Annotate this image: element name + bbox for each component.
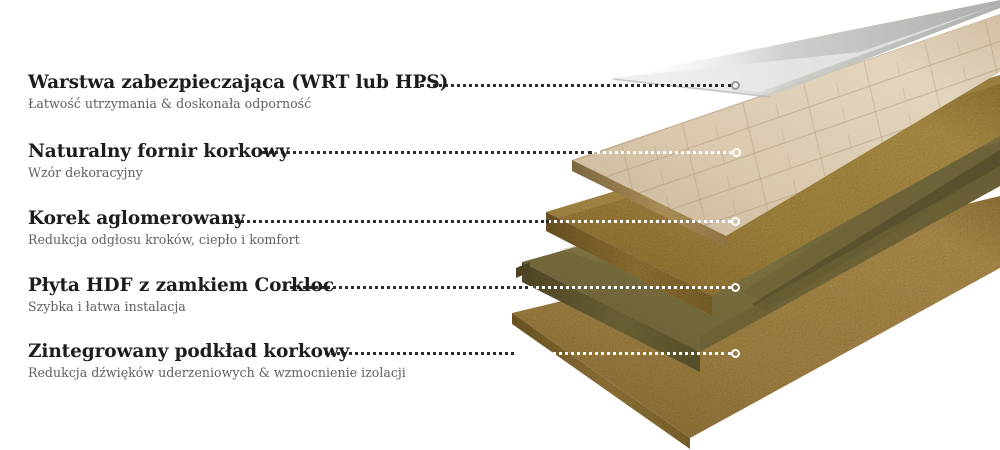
label-cork-veneer-subtitle: Wzór dekoracyjny	[28, 165, 289, 181]
label-hdf-corkloc-subtitle: Szybka i łatwa instalacja	[28, 299, 334, 315]
label-agglomerated-cork: Korek aglomerowany Redukcja odgłosu krok…	[28, 208, 300, 249]
leader-line-cork-veneer-dark	[262, 151, 592, 157]
marker-agglomerated-cork	[731, 217, 740, 226]
label-cork-veneer: Naturalny fornir korkowy Wzór dekoracyjn…	[28, 141, 289, 182]
marker-cork-veneer	[732, 148, 741, 157]
label-integrated-cork-underlay-subtitle: Redukcja dźwięków uderzeniowych & wzmocn…	[28, 365, 406, 381]
marker-hdf-corkloc	[731, 283, 740, 292]
label-protective-title: Warstwa zabezpieczająca (WRT lub HPS)	[28, 72, 448, 93]
label-hdf-corkloc-title: Płyta HDF z zamkiem Corkloc	[28, 275, 334, 296]
label-hdf-corkloc: Płyta HDF z zamkiem Corkloc Szybka i łat…	[28, 275, 334, 316]
label-agglomerated-cork-title: Korek aglomerowany	[28, 208, 300, 229]
label-protective: Warstwa zabezpieczająca (WRT lub HPS) Ła…	[28, 72, 448, 113]
marker-integrated-cork-underlay	[731, 349, 740, 358]
label-integrated-cork-underlay-title: Zintegrowany podkład korkowy	[28, 341, 406, 362]
leader-line-protective	[420, 84, 732, 90]
marker-protective	[731, 81, 740, 90]
label-cork-veneer-title: Naturalny fornir korkowy	[28, 141, 289, 162]
diagram-canvas: Warstwa zabezpieczająca (WRT lub HPS) Ła…	[0, 0, 1000, 450]
label-agglomerated-cork-subtitle: Redukcja odgłosu kroków, ciepło i komfor…	[28, 232, 300, 248]
label-integrated-cork-underlay: Zintegrowany podkład korkowy Redukcja dź…	[28, 341, 406, 382]
label-protective-subtitle: Łatwość utrzymania & doskonała odporność	[28, 96, 448, 112]
